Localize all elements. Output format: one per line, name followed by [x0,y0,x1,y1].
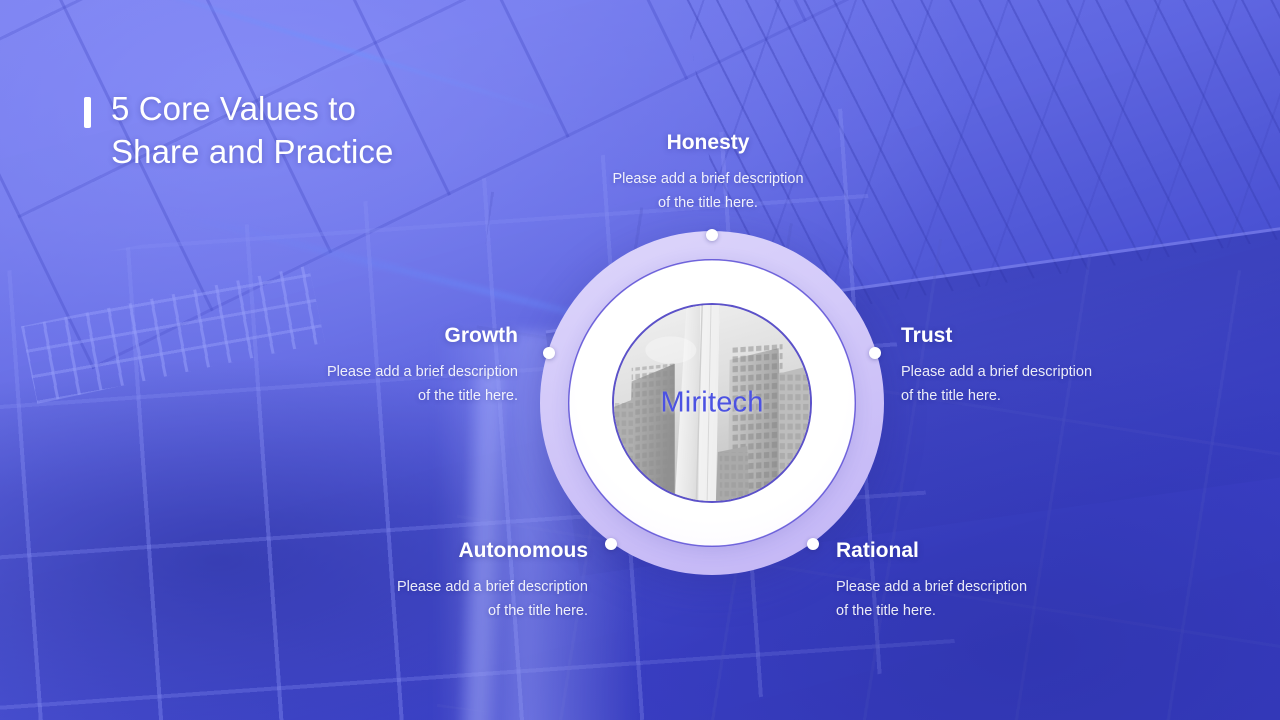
value-title-trust: Trust [901,323,1169,348]
value-title-rational: Rational [836,538,1096,563]
node-dot-autonomous[interactable] [605,538,617,550]
value-item-growth: Growth Please add a brief description of… [250,323,518,408]
value-item-honesty: Honesty Please add a brief description o… [558,130,858,215]
node-dot-growth[interactable] [543,347,555,359]
value-description-growth: Please add a brief description of the ti… [250,361,518,408]
value-title-honesty: Honesty [558,130,858,155]
page-title: 5 Core Values to Share and Practice [84,88,393,174]
node-dot-trust[interactable] [869,347,881,359]
value-description-trust: Please add a brief description of the ti… [901,361,1169,408]
center-emblem: Miritech [540,231,884,575]
value-description-rational: Please add a brief description of the ti… [836,576,1096,623]
value-item-autonomous: Autonomous Please add a brief descriptio… [328,538,588,623]
value-title-autonomous: Autonomous [328,538,588,563]
node-dot-honesty[interactable] [706,229,718,241]
value-title-growth: Growth [250,323,518,348]
value-description-honesty: Please add a brief description of the ti… [558,168,858,215]
value-item-rational: Rational Please add a brief description … [836,538,1096,623]
title-text: 5 Core Values to Share and Practice [111,88,393,174]
value-description-autonomous: Please add a brief description of the ti… [328,576,588,623]
title-accent-bar [84,97,91,128]
slide-canvas: 5 Core Values to Share and Practice [0,0,1280,720]
node-dot-rational[interactable] [807,538,819,550]
brand-name: Miritech [540,387,884,420]
value-item-trust: Trust Please add a brief description of … [901,323,1169,408]
